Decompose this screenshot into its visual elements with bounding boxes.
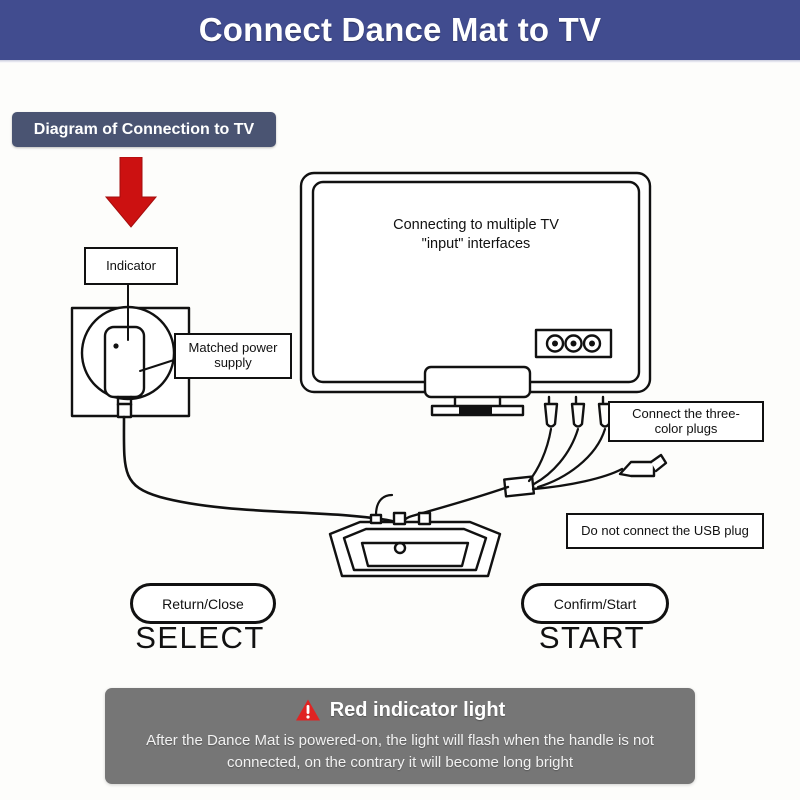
note-title: Red indicator light [330, 699, 506, 722]
label-usb-warning-text: Do not connect the USB plug [581, 524, 749, 539]
diagram-caption-chip: Diagram of Connection to TV [12, 112, 276, 147]
button-confirm-start[interactable]: Confirm/Start [521, 583, 669, 624]
page-root: Connect Dance Mat to TV Diagram of Conne… [0, 0, 800, 800]
note-body-line2: connected, on the contrary it will becom… [123, 752, 677, 774]
page-title: Connect Dance Mat to TV [199, 11, 601, 49]
note-body: After the Dance Mat is powered-on, the l… [123, 730, 677, 774]
red-indicator-note-panel: Red indicator light After the Dance Mat … [105, 688, 695, 784]
label-power-line1: Matched power [189, 341, 278, 356]
label-usb-warning: Do not connect the USB plug [566, 513, 764, 549]
note-header: Red indicator light [105, 698, 695, 722]
label-indicator-text: Indicator [106, 259, 156, 274]
header-divider [0, 60, 800, 63]
label-three-color-line2: color plugs [655, 422, 718, 437]
label-three-color-plugs: Connect the three- color plugs [608, 401, 764, 442]
warning-triangle-icon [295, 698, 321, 722]
label-matched-power-supply: Matched power supply [174, 333, 292, 379]
red-down-arrow-icon [103, 157, 159, 229]
label-indicator: Indicator [84, 247, 178, 285]
button-select-word: SELECT [130, 620, 270, 656]
page-header: Connect Dance Mat to TV [0, 0, 800, 60]
button-return-close[interactable]: Return/Close [130, 583, 276, 624]
button-confirm-start-label: Confirm/Start [554, 596, 636, 612]
note-body-line1: After the Dance Mat is powered-on, the l… [123, 730, 677, 752]
tv-screen-text-line2: "input" interfaces [422, 236, 531, 252]
tv-screen-text-line1: Connecting to multiple TV [393, 217, 559, 233]
diagram-caption-label: Diagram of Connection to TV [34, 121, 254, 139]
button-start-word: START [521, 620, 663, 656]
label-three-color-line1: Connect the three- [632, 407, 740, 422]
label-power-line2: supply [214, 356, 252, 371]
button-return-close-label: Return/Close [162, 596, 244, 612]
